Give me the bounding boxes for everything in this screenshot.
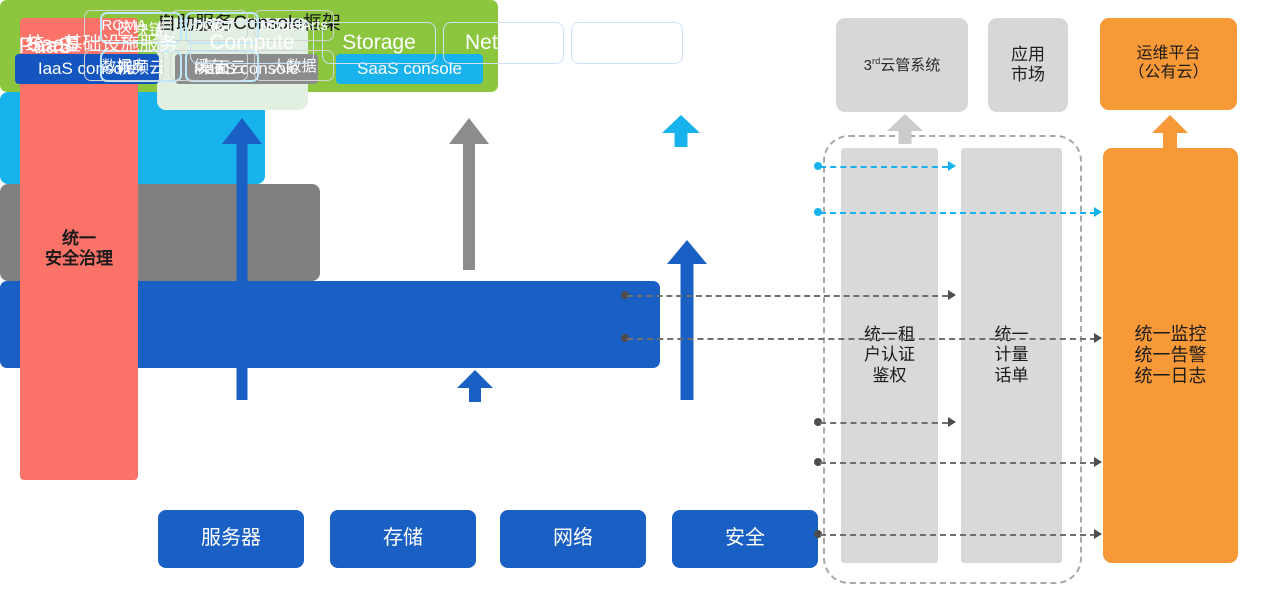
arrow-saas-to-console	[660, 115, 702, 147]
arrow-infra-to-api-gateway	[220, 118, 264, 400]
connector-hardware-to-ops	[820, 534, 1096, 536]
infra-chip-compute[interactable]: Compute	[190, 22, 314, 64]
infra-chip-storage[interactable]: Storage	[322, 22, 436, 64]
arrow-infra-to-paas	[455, 370, 495, 402]
ops-platform-public-cloud-box: 运维平台 （公有云）	[1100, 18, 1237, 110]
connector-arrow-paas-to-ops	[1094, 333, 1102, 343]
unified-infrastructure-label: 统一基础设施服务	[14, 29, 189, 56]
hardware-box-security[interactable]: 安全	[672, 510, 818, 568]
connector-arrow-saas-to-auth	[948, 161, 956, 171]
connector-saas-to-auth	[820, 166, 948, 168]
connector-arrow-infra-to-ops	[1094, 457, 1102, 467]
connector-arrow-hardware-to-ops	[1094, 529, 1102, 539]
connector-arrow-paas-to-auth	[948, 290, 956, 300]
connector-arrow-saas-to-ops	[1094, 207, 1102, 217]
connector-infra-to-auth	[820, 422, 948, 424]
third-party-cloud-label: 3rd云管系统	[864, 56, 941, 75]
ops-platform-monitoring-column: 统一监控 统一告警 统一日志	[1103, 148, 1238, 563]
infra-chip-cce[interactable]: CCE	[571, 22, 683, 64]
connector-arrow-infra-to-auth	[948, 417, 956, 427]
arrow-infra-to-saas	[665, 240, 709, 400]
security-governance-panel: 统一 安全治理	[20, 18, 138, 480]
shared-service-auth-column: 统一租 户认证 鉴权	[841, 148, 938, 563]
hardware-box-network[interactable]: 网络	[500, 510, 646, 568]
connector-infra-to-ops	[820, 462, 1096, 464]
third-party-cloud-management-box: 3rd云管系统	[836, 18, 968, 112]
infra-chip-network[interactable]: Network	[443, 22, 564, 64]
connector-paas-to-auth	[627, 295, 948, 297]
connector-saas-to-ops	[820, 212, 1096, 214]
hardware-box-storage[interactable]: 存储	[330, 510, 476, 568]
shared-service-billing-column: 统一 计量 话单	[961, 148, 1062, 563]
arrow-ops-column-to-ops-top	[1150, 115, 1190, 149]
app-market-box: 应用 市场	[988, 18, 1068, 112]
arrow-paas-to-console	[447, 118, 491, 270]
arrow-shared-services-to-third-cloud	[885, 114, 925, 144]
connector-paas-to-ops	[627, 338, 1096, 340]
hardware-box-server[interactable]: 服务器	[158, 510, 304, 568]
